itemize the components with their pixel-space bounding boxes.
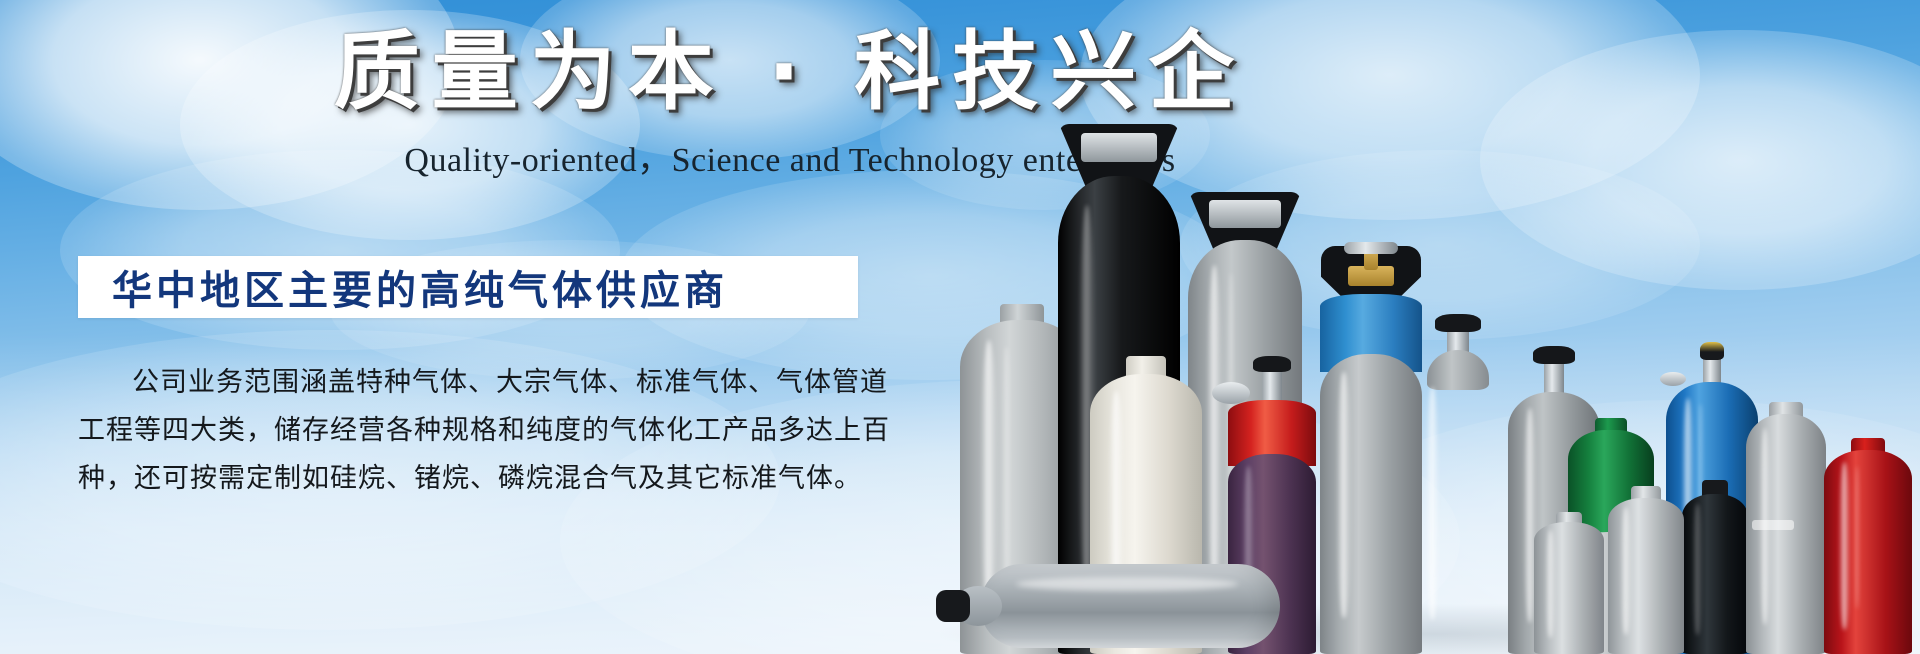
tank-highlight — [1016, 577, 1238, 591]
cylinder-grey-valve — [1410, 334, 1506, 654]
banner-description: 公司业务范围涵盖特种气体、大宗气体、标准气体、气体管道 工程等四大类，储存经营各… — [78, 358, 868, 502]
description-line-3: 种，还可按需定制如硅烷、锗烷、磷烷混合气及其它标准气体。 — [78, 454, 868, 502]
cylinder-aluminum-mini — [1534, 514, 1604, 654]
cylinder-black-small — [1682, 484, 1748, 654]
cylinder-label — [1752, 520, 1794, 530]
cylinder-body — [1746, 414, 1826, 654]
tagline-text: 华中地区主要的高纯气体供应商 — [78, 258, 728, 316]
cylinder-highlight — [1855, 466, 1859, 609]
cylinder-body — [1608, 498, 1684, 654]
gas-cylinder-group — [940, 0, 1920, 654]
valve-gauge — [1212, 382, 1250, 404]
cylinder-body — [1824, 450, 1912, 654]
cylinder-aluminum-small — [1608, 488, 1684, 654]
cylinder-red-right — [1824, 442, 1912, 654]
promotional-banner: 质量为本 · 科技兴企 Quality-oriented，Science and… — [0, 0, 1920, 654]
cylinder-highlight — [1337, 372, 1350, 618]
tank-horizontal-grey — [980, 564, 1280, 648]
cylinder-highlight — [1003, 347, 1009, 581]
cylinder-body — [1534, 522, 1604, 654]
cylinder-highlight — [1546, 530, 1555, 638]
valve-handwheel — [1533, 346, 1575, 364]
valve-outlet — [1660, 372, 1686, 386]
cylinder-highlight — [1839, 462, 1850, 629]
valve-guard-window — [1081, 133, 1158, 163]
cylinder-body — [1320, 354, 1422, 654]
cylinder-highlight — [1207, 265, 1222, 604]
cylinder-blue-grey-valve — [1320, 254, 1422, 654]
valve-handwheel — [1344, 242, 1398, 254]
tank-valve-cap — [936, 590, 970, 622]
valve-cap-yellow — [1700, 342, 1724, 360]
cylinder-highlight — [1621, 507, 1631, 635]
description-line-2: 工程等四大类，储存经营各种规格和纯度的气体化工产品多达上百 — [78, 406, 868, 454]
tagline-box: 华中地区主要的高纯气体供应商 — [78, 256, 858, 318]
cylinder-body — [1682, 494, 1748, 654]
description-line-1: 公司业务范围涵盖特种气体、大宗气体、标准气体、气体管道 — [78, 358, 868, 406]
valve-handwheel — [1435, 314, 1481, 332]
valve-guard-window — [1209, 200, 1281, 228]
cylinder-body — [1410, 370, 1506, 654]
cylinder-highlight — [1426, 387, 1438, 620]
cylinder-highlight — [1693, 504, 1702, 635]
cylinder-aluminum-tall — [1746, 406, 1826, 654]
valve-knob — [1253, 356, 1291, 372]
